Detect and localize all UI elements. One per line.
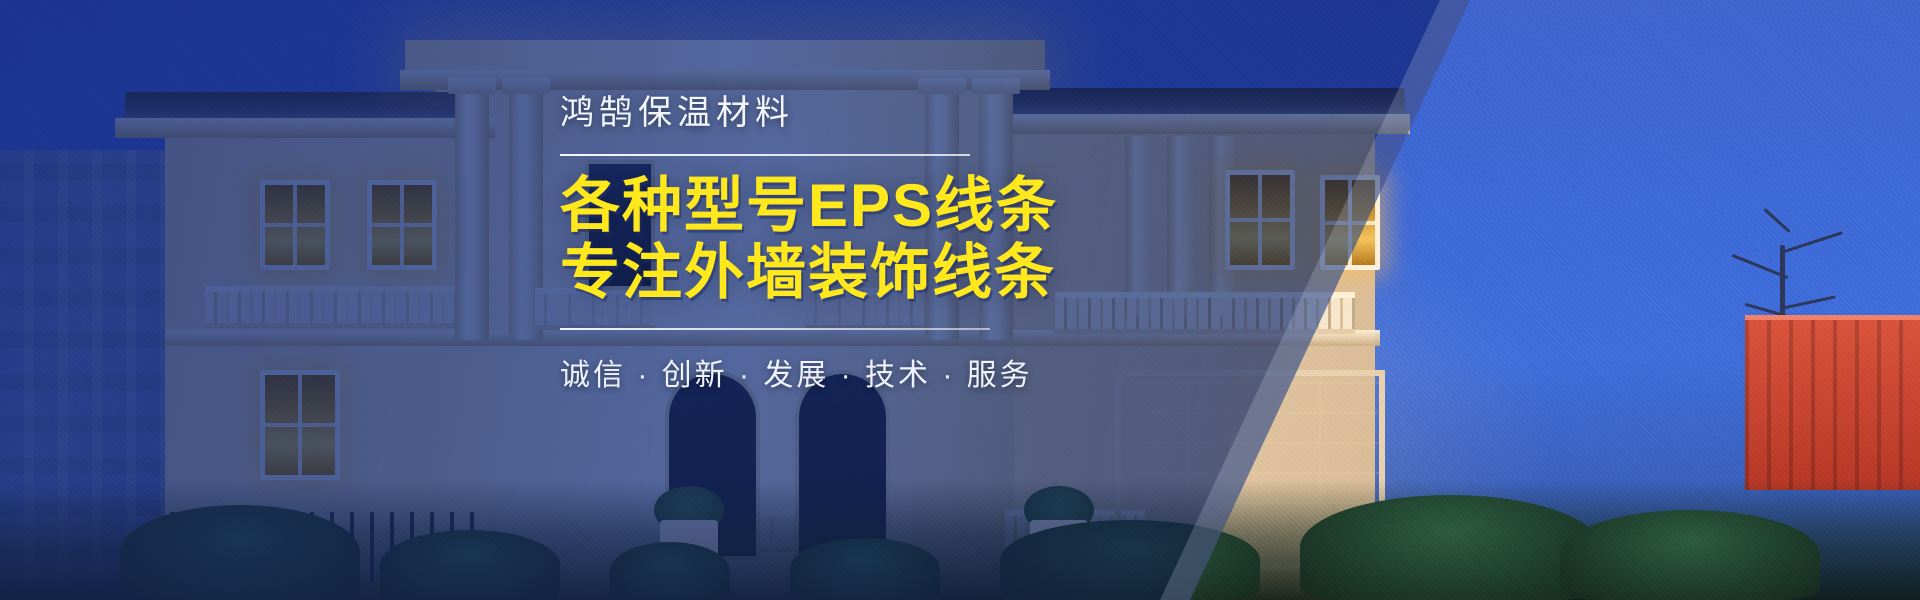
brand-name: 鸿鹄保温材料 [560, 96, 1320, 130]
divider-below-headline [560, 328, 990, 330]
banner-copy: 鸿鹄保温材料 各种型号EPS线条 专注外墙装饰线条 诚信 · 创新 · 发展 ·… [560, 96, 1320, 394]
divider-above-headline [560, 154, 970, 156]
headline-block: 各种型号EPS线条 专注外墙装饰线条 [560, 172, 1320, 306]
headline-line-2: 专注外墙装饰线条 [560, 239, 1320, 306]
banner-stage: 鸿鹄保温材料 各种型号EPS线条 专注外墙装饰线条 诚信 · 创新 · 发展 ·… [0, 0, 1920, 600]
tagline: 诚信 · 创新 · 发展 · 技术 · 服务 [560, 350, 1320, 394]
headline-line-1: 各种型号EPS线条 [560, 172, 1320, 239]
